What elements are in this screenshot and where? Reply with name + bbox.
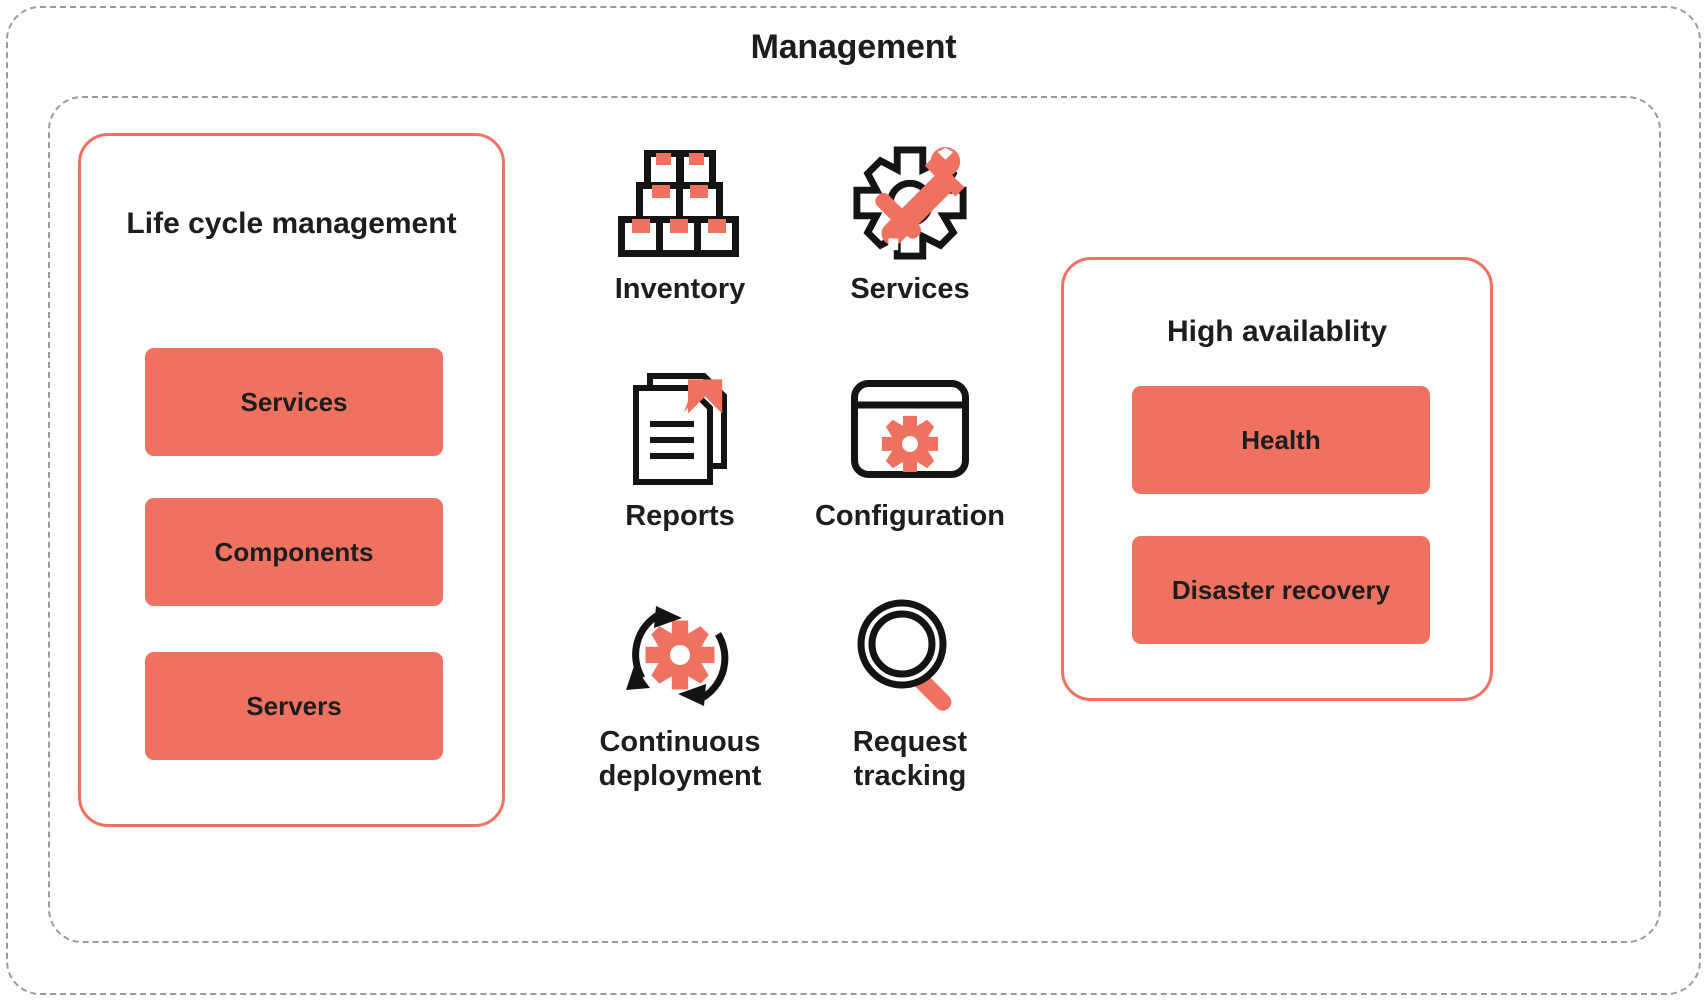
icon-cell-inventory[interactable]: Inventory (565, 140, 795, 367)
icon-label-configuration: Configuration (815, 500, 1005, 534)
icon-label-request-tracking: Request tracking (795, 726, 1025, 794)
cycle-gear-icon (610, 593, 750, 718)
boxes-stack-icon (610, 140, 750, 265)
left-panel-title: Life cycle management (81, 204, 502, 243)
right-panel-title: High availablity (1064, 312, 1490, 351)
left-item-services[interactable]: Services (145, 348, 443, 456)
icon-cell-continuous-deployment[interactable]: Continuous deployment (565, 593, 795, 820)
icon-label-reports: Reports (625, 500, 735, 534)
documents-icon (610, 367, 750, 492)
icon-cell-reports[interactable]: Reports (565, 367, 795, 594)
center-icon-grid: Inventory (565, 140, 1025, 820)
page-title: Management (0, 28, 1707, 67)
window-gear-icon (840, 367, 980, 492)
icon-cell-services[interactable]: Services (795, 140, 1025, 367)
icon-label-continuous-deployment: Continuous deployment (565, 726, 795, 794)
high-availability-panel: High availablity Health Disaster recover… (1061, 257, 1493, 701)
right-item-disaster-recovery[interactable]: Disaster recovery (1132, 536, 1430, 644)
left-item-servers[interactable]: Servers (145, 652, 443, 760)
diagram-canvas: Management Life cycle management Service… (0, 0, 1707, 1001)
right-item-health[interactable]: Health (1132, 386, 1430, 494)
icon-cell-request-tracking[interactable]: Request tracking (795, 593, 1025, 820)
icon-label-services: Services (850, 273, 969, 307)
icon-cell-configuration[interactable]: Configuration (795, 367, 1025, 594)
gear-wrench-icon (840, 140, 980, 265)
left-item-components[interactable]: Components (145, 498, 443, 606)
life-cycle-management-panel: Life cycle management Services Component… (78, 133, 505, 827)
icon-label-inventory: Inventory (615, 273, 746, 307)
magnifier-icon (840, 593, 980, 718)
